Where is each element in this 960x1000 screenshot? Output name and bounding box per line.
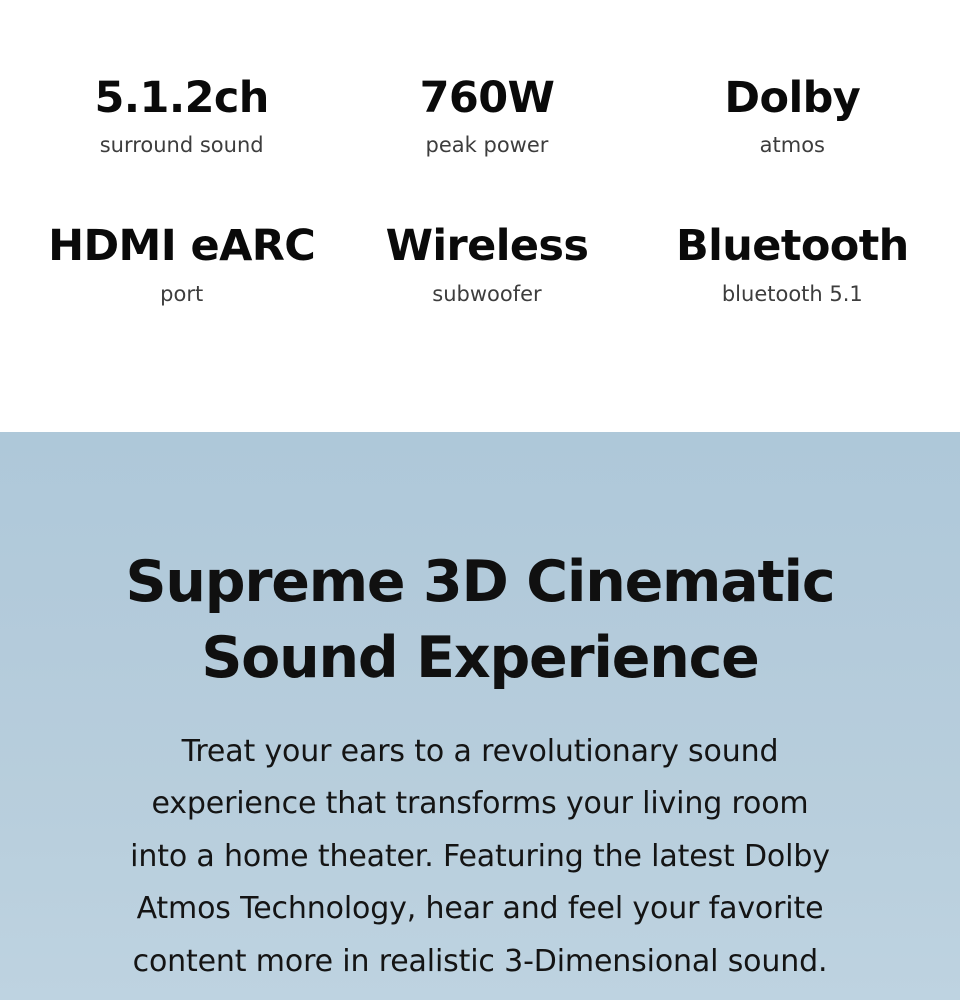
spec-highlights-grid: 5.1.2ch surround sound 760W peak power D… — [15, 74, 945, 307]
hero-description-line: experience that transforms your living r… — [85, 778, 875, 831]
hero-description-line: Atmos Technology, hear and feel your fav… — [85, 883, 875, 936]
hero-description-line: into a home theater. Featuring the lates… — [85, 831, 875, 884]
spec-item-dolby-atmos: Dolby atmos — [640, 74, 945, 158]
hero-description: Treat your ears to a revolutionary sound… — [85, 726, 875, 989]
spec-value: 5.1.2ch — [29, 74, 334, 122]
spec-label: subwoofer — [334, 282, 639, 307]
hero-section: Supreme 3D Cinematic Sound Experience Tr… — [0, 432, 960, 1000]
spec-value: Bluetooth — [640, 222, 945, 270]
spec-label: bluetooth 5.1 — [640, 282, 945, 307]
spec-label: atmos — [640, 133, 945, 158]
hero-title: Supreme 3D Cinematic Sound Experience — [100, 545, 860, 697]
hero-description-line: Treat your ears to a revolutionary sound — [85, 726, 875, 779]
spec-item-surround-sound: 5.1.2ch surround sound — [29, 74, 334, 158]
spec-label: port — [29, 282, 334, 307]
spec-value: Wireless — [334, 222, 639, 270]
hero-description-line: content more in realistic 3-Dimensional … — [85, 936, 875, 989]
spec-item-bluetooth: Bluetooth bluetooth 5.1 — [640, 222, 945, 306]
spec-value: HDMI eARC — [29, 222, 334, 270]
hero-title-line: Sound Experience — [100, 621, 860, 697]
hero-title-line: Supreme 3D Cinematic — [100, 545, 860, 621]
product-detail-page: 5.1.2ch surround sound 760W peak power D… — [0, 0, 960, 1000]
spec-highlights-section: 5.1.2ch surround sound 760W peak power D… — [0, 0, 960, 432]
spec-value: 760W — [334, 74, 639, 122]
spec-label: surround sound — [29, 133, 334, 158]
spec-item-hdmi-earc: HDMI eARC port — [29, 222, 334, 306]
spec-value: Dolby — [640, 74, 945, 122]
spec-item-peak-power: 760W peak power — [334, 74, 639, 158]
spec-label: peak power — [334, 133, 639, 158]
spec-item-wireless-subwoofer: Wireless subwoofer — [334, 222, 639, 306]
